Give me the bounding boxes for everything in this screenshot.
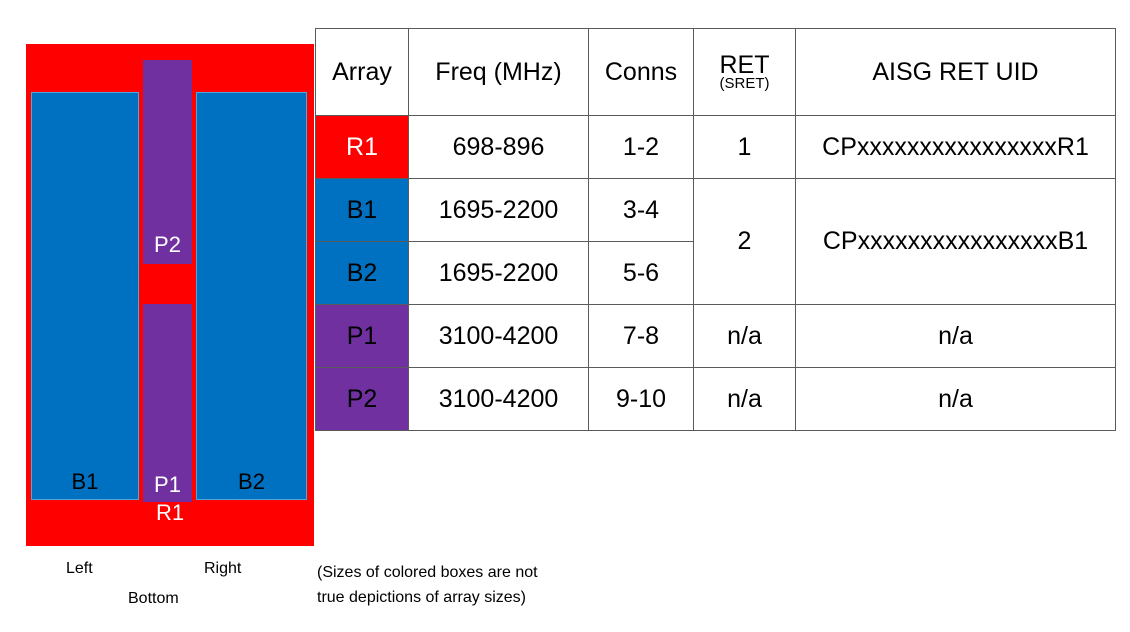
antenna-array-diagram: B1 B2 P2 P1 R1 bbox=[26, 44, 314, 546]
diagram-caption-bottom: Bottom bbox=[128, 591, 179, 607]
column-header-conns: Conns bbox=[589, 29, 694, 116]
table-row: R1 698-896 1-2 1 CPxxxxxxxxxxxxxxxxR1 bbox=[316, 116, 1116, 179]
cell-array-r1: R1 bbox=[316, 116, 409, 179]
diagram-array-box-p2: P2 bbox=[143, 60, 192, 264]
diagram-array-box-b2: B2 bbox=[196, 92, 307, 500]
cell-ret-b1-b2: 2 bbox=[694, 179, 796, 305]
cell-array-b1: B1 bbox=[316, 179, 409, 242]
diagram-array-label-b1: B1 bbox=[72, 471, 99, 499]
cell-uid-r1: CPxxxxxxxxxxxxxxxxR1 bbox=[796, 116, 1116, 179]
table-row: P1 3100-4200 7-8 n/a n/a bbox=[316, 305, 1116, 368]
cell-uid-b1-b2: CPxxxxxxxxxxxxxxxxB1 bbox=[796, 179, 1116, 305]
table-note-line-1: (Sizes of colored boxes are not bbox=[317, 561, 647, 586]
cell-uid-p1: n/a bbox=[796, 305, 1116, 368]
column-header-ret-main: RET bbox=[694, 52, 795, 78]
cell-array-p2: P2 bbox=[316, 368, 409, 431]
diagram-caption-right: Right bbox=[204, 561, 241, 577]
diagram-array-label-b2: B2 bbox=[238, 471, 265, 499]
cell-conns-r1: 1-2 bbox=[589, 116, 694, 179]
diagram-array-label-p1: P1 bbox=[154, 474, 181, 502]
cell-freq-b2: 1695-2200 bbox=[409, 242, 589, 305]
cell-ret-r1: 1 bbox=[694, 116, 796, 179]
cell-ret-p1: n/a bbox=[694, 305, 796, 368]
cell-array-p1: P1 bbox=[316, 305, 409, 368]
table-row: P2 3100-4200 9-10 n/a n/a bbox=[316, 368, 1116, 431]
diagram-caption-left: Left bbox=[66, 561, 93, 577]
diagram-array-box-p1: P1 bbox=[143, 304, 192, 502]
column-header-ret-sub: (SRET) bbox=[694, 76, 795, 93]
column-header-array: Array bbox=[316, 29, 409, 116]
column-header-ret: RET (SRET) bbox=[694, 29, 796, 116]
cell-conns-b1: 3-4 bbox=[589, 179, 694, 242]
cell-array-b2: B2 bbox=[316, 242, 409, 305]
cell-ret-p2: n/a bbox=[694, 368, 796, 431]
table-row: B1 1695-2200 3-4 2 CPxxxxxxxxxxxxxxxxB1 bbox=[316, 179, 1116, 242]
diagram-array-box-b1: B1 bbox=[31, 92, 139, 500]
diagram-array-label-p2: P2 bbox=[154, 234, 181, 264]
diagram-array-label-r1: R1 bbox=[26, 502, 314, 524]
column-header-freq: Freq (MHz) bbox=[409, 29, 589, 116]
table-header-row: Array Freq (MHz) Conns RET (SRET) AISG R… bbox=[316, 29, 1116, 116]
cell-freq-b1: 1695-2200 bbox=[409, 179, 589, 242]
column-header-uid: AISG RET UID bbox=[796, 29, 1116, 116]
cell-freq-p1: 3100-4200 bbox=[409, 305, 589, 368]
cell-uid-p2: n/a bbox=[796, 368, 1116, 431]
array-spec-table: Array Freq (MHz) Conns RET (SRET) AISG R… bbox=[315, 28, 1116, 431]
cell-conns-b2: 5-6 bbox=[589, 242, 694, 305]
cell-freq-p2: 3100-4200 bbox=[409, 368, 589, 431]
table-note: (Sizes of colored boxes are not true dep… bbox=[317, 561, 647, 611]
cell-conns-p1: 7-8 bbox=[589, 305, 694, 368]
cell-freq-r1: 698-896 bbox=[409, 116, 589, 179]
cell-conns-p2: 9-10 bbox=[589, 368, 694, 431]
table-note-line-2: true depictions of array sizes) bbox=[317, 586, 647, 611]
